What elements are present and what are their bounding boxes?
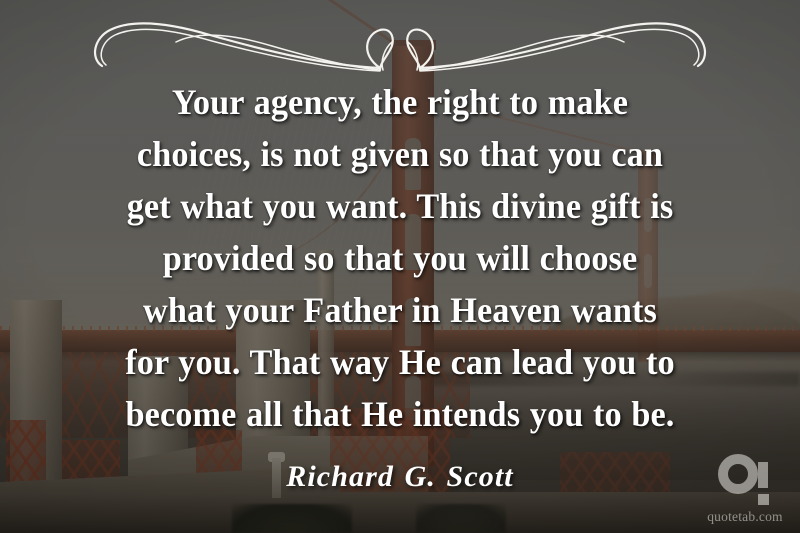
quote-line: Your agency, the right to make: [56, 76, 743, 128]
quote-card: Your agency, the right to make choices, …: [0, 0, 800, 533]
quote-line: get what you want. This divine gift is: [56, 180, 743, 232]
card-content: Your agency, the right to make choices, …: [0, 0, 800, 533]
watermark-quotetab[interactable]: quotetab.com: [702, 454, 788, 525]
quote-line: become all that He intends you to be.: [56, 388, 743, 440]
quote-line: provided so that you will choose: [56, 232, 743, 284]
logo-stem: [758, 462, 768, 488]
logo-ring: [718, 454, 758, 494]
quote-author: Richard G. Scott: [286, 460, 513, 494]
logo-square-dot: [758, 494, 769, 505]
quote-text: Your agency, the right to make choices, …: [56, 76, 743, 440]
quote-line: what your Father in Heaven wants: [56, 284, 743, 336]
watermark-site-label: quotetab.com: [707, 509, 783, 525]
flourish-divider-ornament: [80, 8, 720, 76]
quote-line: for you. That way He can lead you to: [56, 336, 743, 388]
quotetab-logo-icon: [718, 454, 772, 506]
quote-line: choices, is not given so that you can: [56, 128, 743, 180]
